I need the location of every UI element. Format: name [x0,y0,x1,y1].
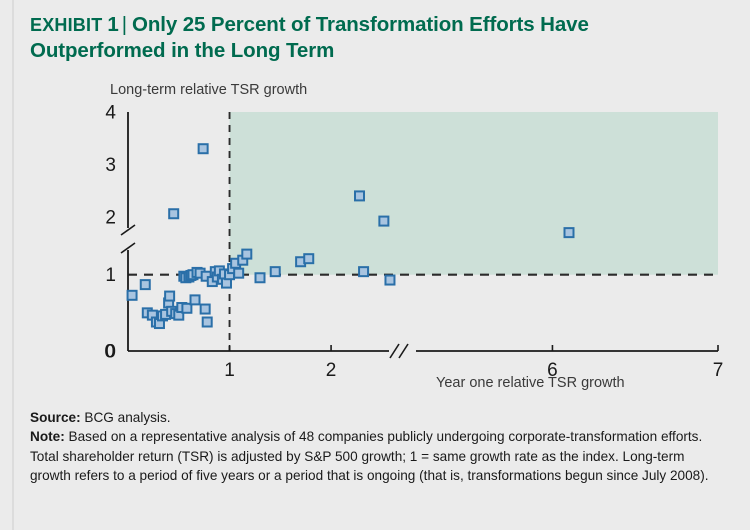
data-point [201,305,210,314]
explanatory-note: Note: Based on a representative analysis… [30,427,720,486]
source-text: BCG analysis. [81,410,171,425]
data-point [242,250,251,259]
page-title-line-2: Outperformed in the Long Term [30,38,720,64]
x-axis-break-mark [399,344,408,358]
title-separator: | [119,13,132,36]
data-point [355,191,364,200]
source-label: Source: [30,410,81,425]
data-point [304,254,313,263]
page-title-line-1: Exhibit1|Only 25 Percent of Transformati… [30,12,720,38]
x-tick-label: 0 [104,342,115,363]
scatter-chart: Long-term relative TSR growth Year one r… [0,78,750,398]
y-tick-label: 2 [105,207,116,228]
x-tick-label: 7 [713,360,724,381]
source-note: Source: BCG analysis. [30,408,720,428]
x-tick-label: 6 [547,360,558,381]
exhibit-number: 1 [107,13,118,36]
plot-surface: 0123401267 [0,78,750,398]
data-point [565,228,574,237]
data-point [234,269,243,278]
x-tick-label: 1 [224,360,235,381]
exhibit-header: Exhibit1|Only 25 Percent of Transformati… [30,12,720,64]
data-point [199,144,208,153]
data-point [379,217,388,226]
data-point [203,318,212,327]
data-point [141,280,150,289]
x-axis-break-mark [390,344,399,358]
data-point [271,267,280,276]
note-label: Note: [30,429,65,444]
exhibit-label: Exhibit [30,15,102,35]
outperformer-shaded-region [230,112,718,275]
y-tick-label: 4 [105,103,116,124]
data-point [169,209,178,218]
y-tick-label: 1 [105,265,116,286]
x-tick-label: 2 [326,360,337,381]
data-point [359,267,368,276]
data-point [128,291,137,300]
data-point [385,276,394,285]
y-tick-label: 3 [105,155,116,176]
page-title-text-1: Only 25 Percent of Transformation Effort… [132,13,589,36]
data-point [256,273,265,282]
exhibit-page: Exhibit1|Only 25 Percent of Transformati… [0,0,750,530]
note-text: Based on a representative analysis of 48… [30,429,709,483]
data-point [191,295,200,304]
data-point [165,292,174,301]
